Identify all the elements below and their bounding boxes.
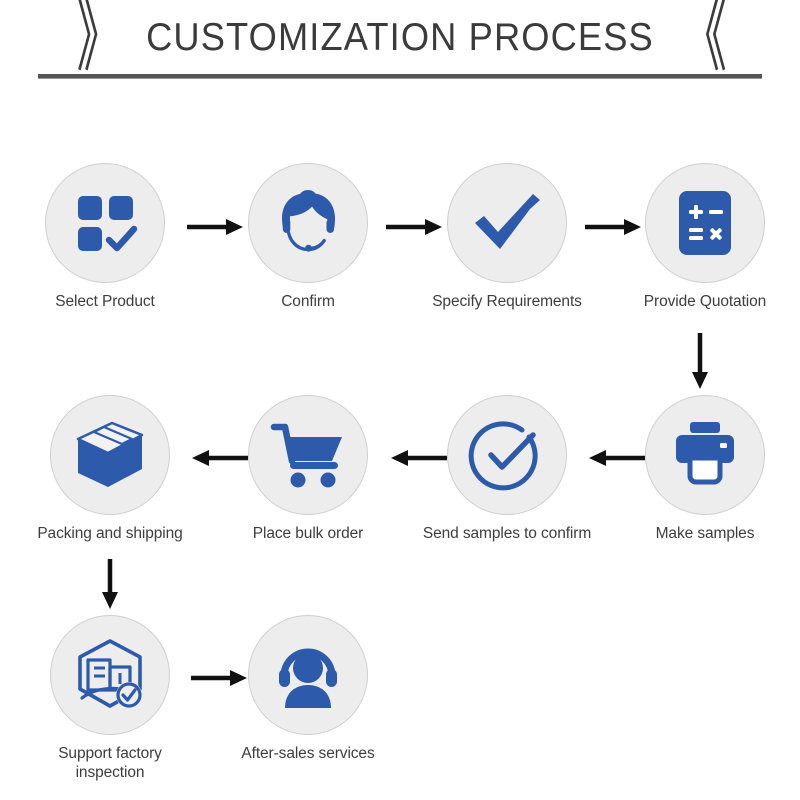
flow-step-support-factory-inspection[interactable]: Support factory inspection: [25, 615, 195, 782]
factory-shield-check-icon: [71, 636, 149, 714]
headset-woman-icon: [268, 183, 348, 263]
flow-step-label: Select Product: [20, 292, 190, 311]
flow-step-select-product[interactable]: Select Product: [20, 163, 190, 311]
flow-step-label-line1: Support factory: [25, 744, 195, 763]
grid-check-icon: [68, 186, 142, 260]
printer-icon: [668, 418, 742, 492]
chevron-left-double-icon: 《: [683, 0, 724, 77]
connector-arrow-down: [100, 558, 120, 610]
flow-step-label: After-sales services: [223, 744, 393, 763]
flow-step-specify-requirements[interactable]: Specify Requirements: [422, 163, 592, 311]
flow-step-label: Provide Quotation: [620, 292, 790, 311]
flow-step-icon-circle: [248, 615, 368, 735]
chevron-right-double-icon: 》: [77, 0, 118, 77]
flow-step-icon-circle: [50, 615, 170, 735]
flow-step-label: Confirm: [223, 292, 393, 311]
flow-step-place-bulk-order[interactable]: Place bulk order: [223, 395, 393, 543]
flow-step-confirm[interactable]: Confirm: [223, 163, 393, 311]
package-box-icon: [72, 417, 148, 493]
circle-check-icon: [467, 415, 547, 495]
flow-step-icon-circle: [45, 163, 165, 283]
flow-step-label: Send samples to confirm: [422, 524, 592, 543]
title-divider: [38, 74, 762, 79]
title-row: 》 CUSTOMIZATION PROCESS 《: [0, 8, 800, 68]
flow-step-icon-circle: [447, 163, 567, 283]
support-agent-icon: [269, 636, 347, 714]
page-header: 》 CUSTOMIZATION PROCESS 《: [0, 0, 800, 90]
flow-step-icon-circle: [447, 395, 567, 515]
flow-step-label: Make samples: [620, 524, 790, 543]
flow-step-label-line2: inspection: [25, 763, 195, 782]
checkmark-icon: [467, 183, 547, 263]
shopping-cart-icon: [270, 417, 346, 493]
flow-step-icon-circle: [645, 395, 765, 515]
flow-step-icon-circle: [248, 395, 368, 515]
flow-step-packing-and-shipping[interactable]: Packing and shipping: [25, 395, 195, 543]
flow-step-label: Place bulk order: [223, 524, 393, 543]
flow-step-provide-quotation[interactable]: Provide Quotation: [620, 163, 790, 311]
page-title: CUSTOMIZATION PROCESS: [146, 16, 654, 60]
calculator-icon: [669, 187, 741, 259]
flow-step-icon-circle: [50, 395, 170, 515]
flow-step-icon-circle: [248, 163, 368, 283]
flow-step-send-samples-to-confirm[interactable]: Send samples to confirm: [422, 395, 592, 543]
flow-step-make-samples[interactable]: Make samples: [620, 395, 790, 543]
flow-step-label: Packing and shipping: [25, 524, 195, 543]
connector-arrow-down: [690, 332, 710, 390]
flow-step-label: Specify Requirements: [422, 292, 592, 311]
flow-step-label: Support factory inspection: [25, 744, 195, 782]
flow-step-after-sales-services[interactable]: After-sales services: [223, 615, 393, 763]
flow-step-icon-circle: [645, 163, 765, 283]
